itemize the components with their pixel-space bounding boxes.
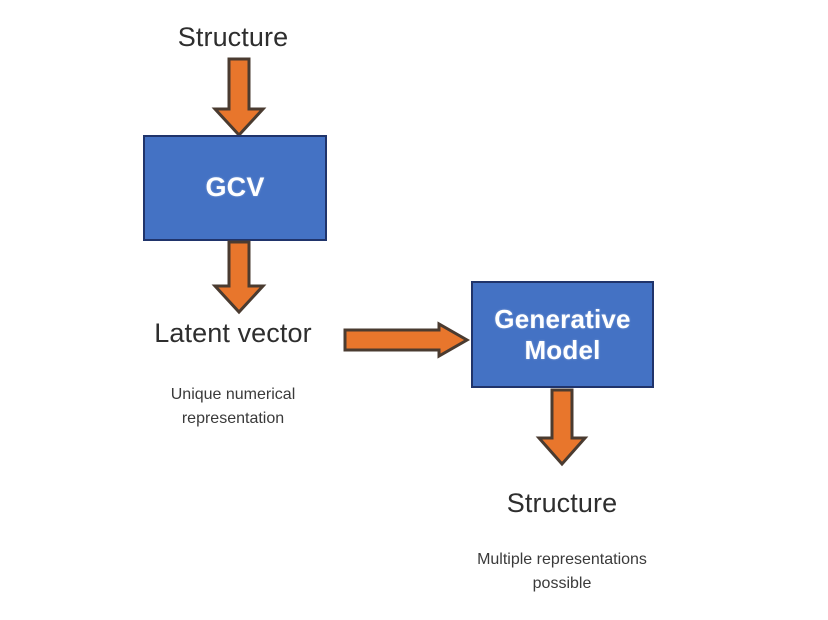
arrow-down-gcv-to-latent-vector bbox=[213, 240, 265, 314]
caption-structure-output: Multiple representations possible bbox=[437, 548, 687, 596]
node-box-gcv: GCV bbox=[143, 135, 327, 241]
node-box-gcv-label: GCV bbox=[145, 172, 325, 204]
node-box-generative-model-label: Generative Model bbox=[473, 304, 652, 365]
arrow-down-generative-model-to-structure bbox=[537, 388, 587, 466]
label-latent-vector: Latent vector bbox=[108, 318, 358, 349]
arrow-right-latent-vector-to-generative-model bbox=[343, 322, 469, 358]
caption-latent-vector: Unique numerical representation bbox=[118, 383, 348, 431]
label-structure-output: Structure bbox=[437, 488, 687, 519]
label-structure-input: Structure bbox=[108, 22, 358, 53]
node-box-generative-model: Generative Model bbox=[471, 281, 654, 388]
diagram-canvas: Structure GCV Latent vector Unique numer… bbox=[0, 0, 828, 620]
arrow-down-structure-to-gcv bbox=[213, 57, 265, 137]
